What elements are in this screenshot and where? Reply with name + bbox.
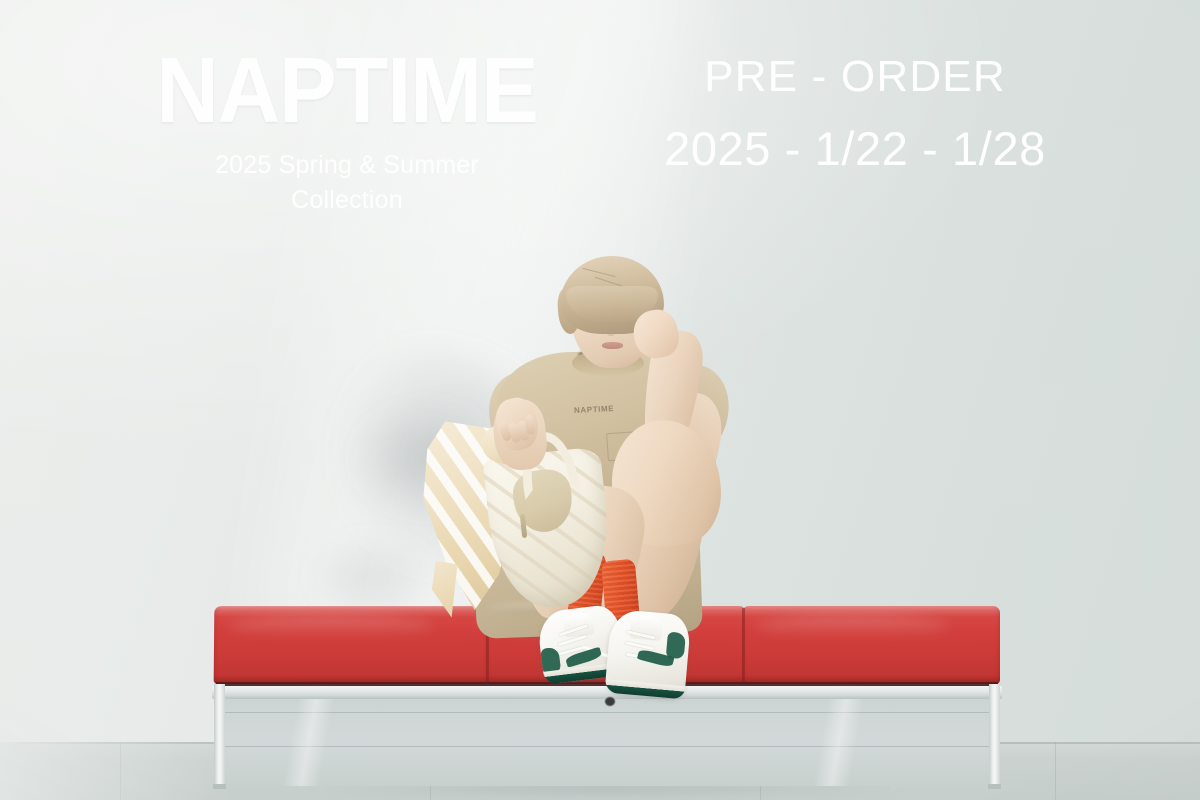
collection-subtitle: 2025 Spring & Summer Collection [164, 148, 530, 219]
sneaker-right [604, 609, 691, 700]
preorder-block: PRE - ORDER 2025 - 1/22 - 1/28 [640, 55, 1070, 172]
hair-strand [582, 268, 615, 278]
promo-poster: NAPTIME [0, 0, 1200, 800]
brand-block: NAPTIME 2025 Spring & Summer Collection [164, 48, 530, 219]
finger [524, 414, 536, 435]
sneaker-lace [625, 641, 655, 650]
preorder-dates: 2025 - 1/22 - 1/28 [640, 125, 1070, 172]
sneaker-sole [604, 679, 685, 699]
model-mouth [602, 342, 623, 349]
sneaker-heel-panel [666, 632, 686, 659]
preorder-title: PRE - ORDER [640, 55, 1070, 99]
collection-line-1: 2025 Spring & Summer [164, 148, 530, 184]
sneaker-tongue [562, 612, 594, 637]
brand-logo: NAPTIME [149, 48, 544, 133]
collection-line-2: Collection [164, 183, 530, 219]
